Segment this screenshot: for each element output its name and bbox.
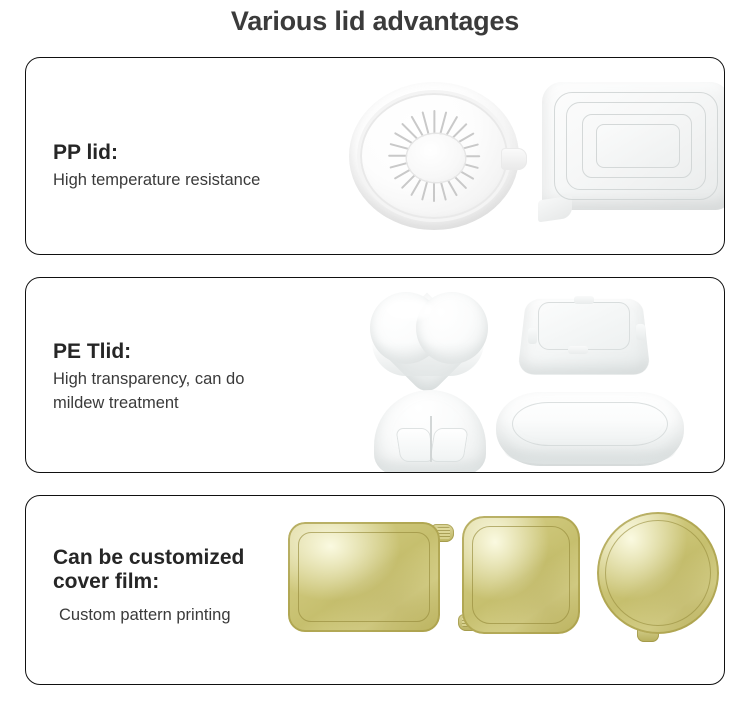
pe-lid-text-block: PE Tlid: High transparency, can do milde… bbox=[53, 340, 244, 416]
pe-square-notch-bottom bbox=[568, 346, 588, 354]
rectangular-gold-foil-cover-image bbox=[282, 514, 457, 640]
pe-dome-foot-rim bbox=[378, 458, 482, 473]
round-gold-foil-cover-image bbox=[591, 508, 725, 648]
pe-lid-heading: PE Tlid: bbox=[53, 340, 244, 364]
heart-dome-pe-lid-image bbox=[366, 286, 496, 391]
round-ribbed-pp-lid-image bbox=[341, 70, 531, 245]
pp-round-center-hub bbox=[407, 134, 465, 182]
pp-rect-corner-flap bbox=[538, 196, 572, 223]
cover-film-description: Custom pattern printing bbox=[53, 599, 244, 628]
gold-square-inset-line bbox=[472, 526, 570, 624]
pp-lid-description: High temperature resistance bbox=[53, 169, 260, 193]
pp-lid-text-block: PP lid: High temperature resistance bbox=[53, 141, 260, 193]
pp-round-pull-tab bbox=[501, 148, 527, 170]
pp-lid-heading: PP lid: bbox=[53, 141, 260, 165]
pe-heart-highlight bbox=[386, 300, 434, 320]
gold-rect-inset-line bbox=[298, 532, 430, 622]
square-gold-foil-cover-image bbox=[454, 510, 604, 645]
pe-oval-inner-ring bbox=[512, 402, 668, 446]
pp-rect-center-panel bbox=[596, 124, 680, 168]
round-dome-pe-lid-image bbox=[374, 390, 492, 473]
pe-dome-wedge-left bbox=[395, 428, 434, 462]
panel-pe-lid: PE Tlid: High transparency, can do milde… bbox=[25, 277, 725, 473]
pe-dome-center-ridge bbox=[430, 416, 432, 462]
gold-circle-inset-line bbox=[605, 520, 711, 626]
infographic-page: Various lid advantages PP lid: High temp… bbox=[0, 0, 750, 712]
page-title: Various lid advantages bbox=[0, 6, 750, 37]
panel-cover-film: Can be customized cover film: Custom pat… bbox=[25, 495, 725, 685]
pe-square-notch-right bbox=[636, 324, 645, 340]
cover-film-heading: Can be customized cover film: bbox=[53, 546, 244, 595]
pe-oval-lip bbox=[504, 448, 676, 464]
pe-heart-base-rim bbox=[372, 342, 484, 376]
pe-lid-description: High transparency, can do mildew treatme… bbox=[53, 368, 244, 416]
panel-pp-lid: PP lid: High temperature resistance bbox=[25, 57, 725, 255]
pe-square-top-face bbox=[538, 302, 630, 350]
pe-square-notch-left bbox=[528, 328, 537, 344]
pe-square-notch-top bbox=[574, 296, 594, 304]
rectangular-pp-lid-image bbox=[534, 74, 725, 234]
oval-dome-pe-lid-image bbox=[496, 390, 691, 473]
pe-dome-wedge-right bbox=[429, 428, 468, 462]
cover-film-text-block: Can be customized cover film: Custom pat… bbox=[53, 546, 244, 628]
square-dome-pe-lid-image bbox=[518, 288, 653, 388]
